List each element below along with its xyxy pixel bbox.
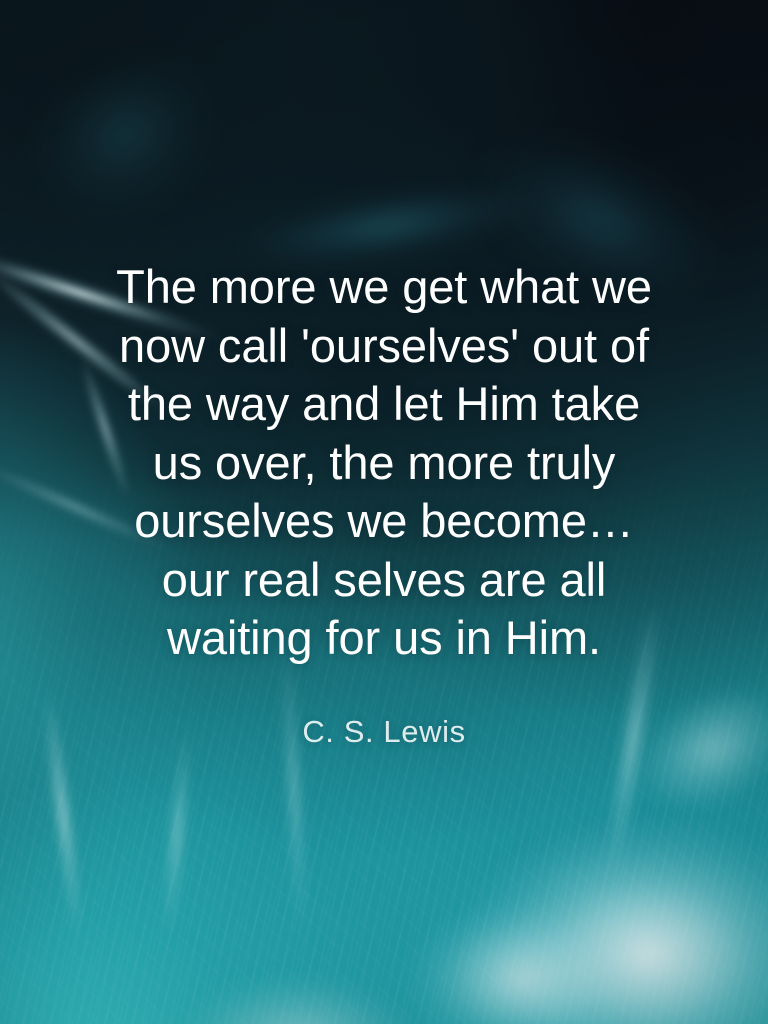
- quote-body: The more we get what we now call 'oursel…: [0, 258, 768, 668]
- quote-author: C. S. Lewis: [0, 714, 768, 750]
- quote-content: The more we get what we now call 'oursel…: [0, 0, 768, 1024]
- quote-poster: The more we get what we now call 'oursel…: [0, 0, 768, 1024]
